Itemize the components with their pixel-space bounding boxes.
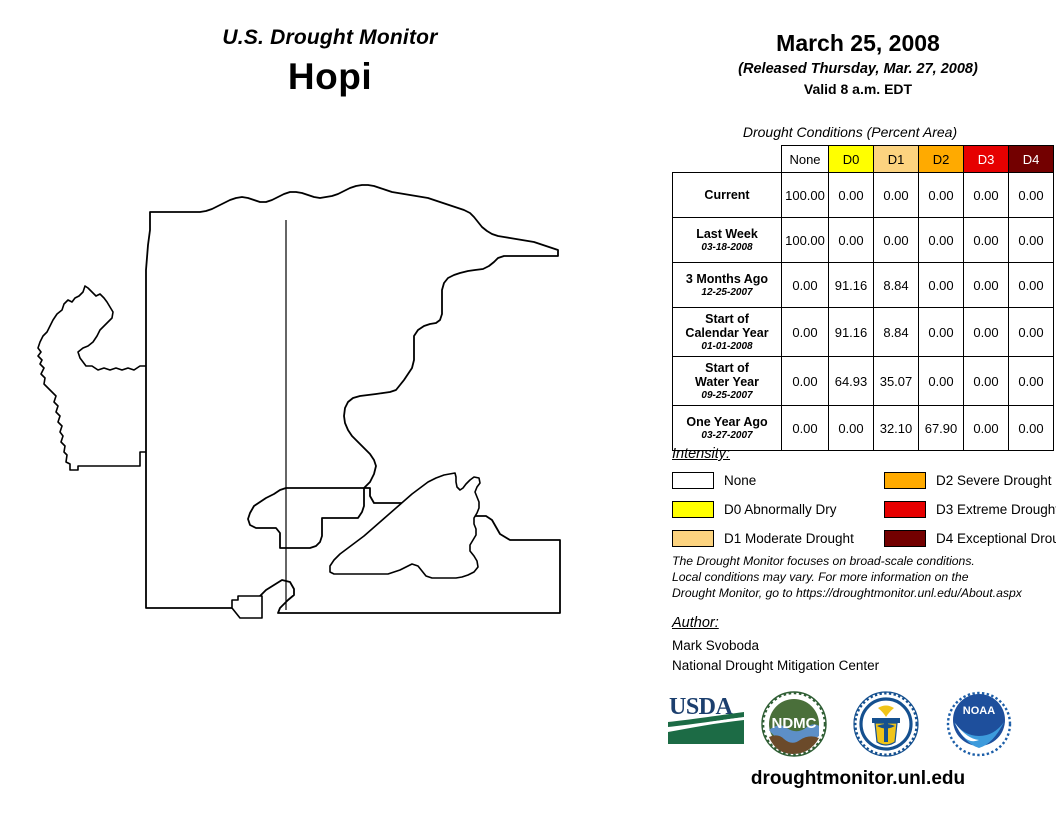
drought-map[interactable] xyxy=(0,130,660,730)
usda-logo: USDA xyxy=(666,690,746,750)
author-name: Mark Svoboda xyxy=(672,636,879,656)
column-header-d2: D2 xyxy=(919,146,964,173)
table-caption: Drought Conditions (Percent Area) xyxy=(660,124,1040,140)
released-date: (Released Thursday, Mar. 27, 2008) xyxy=(660,61,1056,77)
table-cell-d1: 8.84 xyxy=(874,263,919,308)
doc-seal-svg xyxy=(852,690,920,758)
table-cell-d0: 0.00 xyxy=(829,406,874,451)
drought-conditions-table: None D0 D1 D2 D3 D4 Current100.000.000.0… xyxy=(672,145,1054,451)
table-cell-d4: 0.00 xyxy=(1009,357,1054,406)
doc-seal-logo xyxy=(852,690,920,758)
legend-swatch-icon xyxy=(884,530,926,547)
table-cell-d3: 0.00 xyxy=(964,263,1009,308)
svg-text:NDMC: NDMC xyxy=(772,715,817,732)
disclaimer-text: The Drought Monitor focuses on broad-sca… xyxy=(672,553,1052,601)
row-label: One Year Ago03-27-2007 xyxy=(673,406,782,451)
row-label-text: Current xyxy=(677,188,777,202)
disclaimer-line-2: Local conditions may vary. For more info… xyxy=(672,569,1052,585)
column-header-d0: D0 xyxy=(829,146,874,173)
usda-logo-svg: USDA xyxy=(666,690,746,750)
table-corner-cell xyxy=(673,146,782,173)
table-cell-none: 100.00 xyxy=(782,218,829,263)
legend-column-right: D2 Severe DroughtD3 Extreme DroughtD4 Ex… xyxy=(884,468,1056,555)
table-cell-none: 0.00 xyxy=(782,357,829,406)
table-cell-d1: 8.84 xyxy=(874,308,919,357)
legend-item: D0 Abnormally Dry xyxy=(672,497,854,522)
table-cell-d1: 32.10 xyxy=(874,406,919,451)
row-label: Current xyxy=(673,173,782,218)
region-title: Hopi xyxy=(0,56,660,98)
table-cell-none: 0.00 xyxy=(782,263,829,308)
author-heading: Author: xyxy=(672,615,719,631)
table-cell-d2: 67.90 xyxy=(919,406,964,451)
legend-swatch-icon xyxy=(672,472,714,489)
page-title: U.S. Drought Monitor xyxy=(0,26,660,50)
table-cell-d0: 64.93 xyxy=(829,357,874,406)
table-row: Current100.000.000.000.000.000.00 xyxy=(673,173,1054,218)
table-cell-d4: 0.00 xyxy=(1009,308,1054,357)
map-panel: U.S. Drought Monitor Hopi xyxy=(0,0,660,816)
noaa-logo: NOAA xyxy=(945,690,1013,758)
legend-label: D4 Exceptional Drought xyxy=(936,531,1056,546)
legend-swatch-icon xyxy=(672,530,714,547)
table-cell-d4: 0.00 xyxy=(1009,263,1054,308)
row-label-date: 03-27-2007 xyxy=(677,430,777,441)
table-cell-none: 0.00 xyxy=(782,308,829,357)
table-cell-d1: 0.00 xyxy=(874,218,919,263)
legend-swatch-icon xyxy=(884,501,926,518)
valid-time: Valid 8 a.m. EDT xyxy=(660,81,1056,97)
disclaimer-line-3: Drought Monitor, go to https://droughtmo… xyxy=(672,585,1052,601)
row-label: Start ofWater Year09-25-2007 xyxy=(673,357,782,406)
legend-label: D0 Abnormally Dry xyxy=(724,502,837,517)
table-row: Start ofWater Year09-25-20070.0064.9335.… xyxy=(673,357,1054,406)
info-panel: March 25, 2008 (Released Thursday, Mar. … xyxy=(660,0,1056,816)
row-label-text: Start ofCalendar Year xyxy=(677,312,777,340)
noaa-logo-svg: NOAA xyxy=(945,690,1013,758)
legend-item: None xyxy=(672,468,854,493)
legend-item: D2 Severe Drought xyxy=(884,468,1056,493)
table-cell-d3: 0.00 xyxy=(964,173,1009,218)
author-organization: National Drought Mitigation Center xyxy=(672,656,879,676)
legend-item: D1 Moderate Drought xyxy=(672,526,854,551)
row-label-text: 3 Months Ago xyxy=(677,272,777,286)
legend-label: None xyxy=(724,473,756,488)
table-row: One Year Ago03-27-20070.000.0032.1067.90… xyxy=(673,406,1054,451)
author-block: Mark Svoboda National Drought Mitigation… xyxy=(672,636,879,675)
table-cell-d2: 0.00 xyxy=(919,308,964,357)
table-row: 3 Months Ago12-25-20070.0091.168.840.000… xyxy=(673,263,1054,308)
table-cell-none: 100.00 xyxy=(782,173,829,218)
table-cell-d2: 0.00 xyxy=(919,263,964,308)
column-header-none: None xyxy=(782,146,829,173)
logo-row: USDA NDMC xyxy=(660,690,1056,760)
valid-date: March 25, 2008 xyxy=(660,30,1056,57)
row-label-date: 01-01-2008 xyxy=(677,341,777,352)
table-cell-d4: 0.00 xyxy=(1009,218,1054,263)
table-cell-d0: 91.16 xyxy=(829,308,874,357)
table-header-row: None D0 D1 D2 D3 D4 xyxy=(673,146,1054,173)
table-cell-d0: 0.00 xyxy=(829,218,874,263)
map-notch-bottom xyxy=(232,596,262,618)
row-label-text: Last Week xyxy=(677,227,777,241)
row-label-text: Start ofWater Year xyxy=(677,361,777,389)
legend-label: D3 Extreme Drought xyxy=(936,502,1056,517)
table-cell-d2: 0.00 xyxy=(919,357,964,406)
table-cell-d2: 0.00 xyxy=(919,173,964,218)
column-header-d3: D3 xyxy=(964,146,1009,173)
table-cell-d1: 0.00 xyxy=(874,173,919,218)
row-label: Start ofCalendar Year01-01-2008 xyxy=(673,308,782,357)
row-label-text: One Year Ago xyxy=(677,415,777,429)
date-block: March 25, 2008 (Released Thursday, Mar. … xyxy=(660,30,1056,97)
table-cell-none: 0.00 xyxy=(782,406,829,451)
legend-swatch-icon xyxy=(884,472,926,489)
table-cell-d2: 0.00 xyxy=(919,218,964,263)
row-label-date: 12-25-2007 xyxy=(677,287,777,298)
disclaimer-line-1: The Drought Monitor focuses on broad-sca… xyxy=(672,553,1052,569)
row-label: 3 Months Ago12-25-2007 xyxy=(673,263,782,308)
legend-label: D2 Severe Drought xyxy=(936,473,1052,488)
svg-text:NOAA: NOAA xyxy=(963,705,995,717)
table-cell-d0: 0.00 xyxy=(829,173,874,218)
table-cell-d3: 0.00 xyxy=(964,406,1009,451)
legend-label: D1 Moderate Drought xyxy=(724,531,854,546)
table-header: None D0 D1 D2 D3 D4 xyxy=(673,146,1054,173)
ndmc-logo-svg: NDMC xyxy=(760,690,828,758)
table-cell-d0: 91.16 xyxy=(829,263,874,308)
site-url[interactable]: droughtmonitor.unl.edu xyxy=(660,768,1056,790)
legend-item: D3 Extreme Drought xyxy=(884,497,1056,522)
intensity-heading: Intensity: xyxy=(672,446,730,462)
row-label: Last Week03-18-2008 xyxy=(673,218,782,263)
table-cell-d4: 0.00 xyxy=(1009,173,1054,218)
table-cell-d1: 35.07 xyxy=(874,357,919,406)
legend-item: D4 Exceptional Drought xyxy=(884,526,1056,551)
table-cell-d3: 0.00 xyxy=(964,218,1009,263)
table-cell-d3: 0.00 xyxy=(964,308,1009,357)
table-row: Last Week03-18-2008100.000.000.000.000.0… xyxy=(673,218,1054,263)
legend-swatch-icon xyxy=(672,501,714,518)
row-label-date: 09-25-2007 xyxy=(677,390,777,401)
table-cell-d4: 0.00 xyxy=(1009,406,1054,451)
ndmc-logo: NDMC xyxy=(760,690,828,758)
table-row: Start ofCalendar Year01-01-20080.0091.16… xyxy=(673,308,1054,357)
column-header-d1: D1 xyxy=(874,146,919,173)
map-svg xyxy=(0,130,660,730)
column-header-d4: D4 xyxy=(1009,146,1054,173)
title-block: U.S. Drought Monitor Hopi xyxy=(0,26,660,98)
row-label-date: 03-18-2008 xyxy=(677,242,777,253)
table-cell-d3: 0.00 xyxy=(964,357,1009,406)
legend-column-left: NoneD0 Abnormally DryD1 Moderate Drought xyxy=(672,468,854,555)
table-body: Current100.000.000.000.000.000.00Last We… xyxy=(673,173,1054,451)
